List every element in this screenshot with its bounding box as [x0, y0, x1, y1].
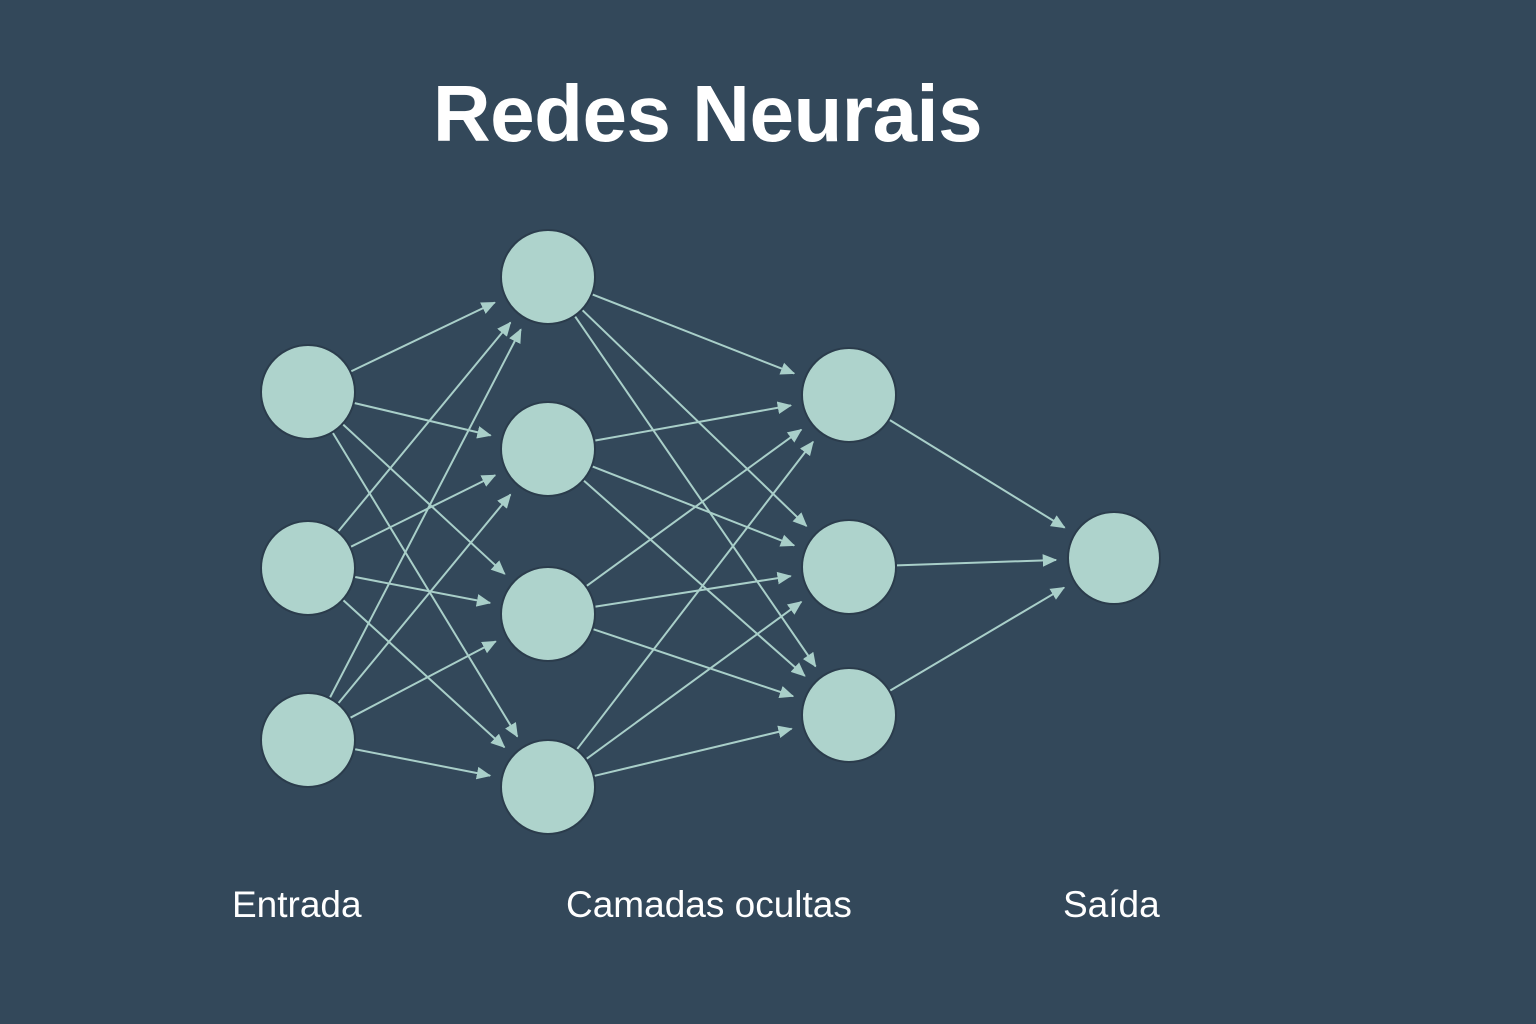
connection-edge	[351, 302, 495, 371]
connection-edge	[897, 560, 1056, 565]
neuron-node-input-2[interactable]	[261, 521, 355, 615]
connection-edge	[890, 588, 1064, 691]
connection-edge	[587, 602, 802, 759]
layer-label-output: Saída	[1063, 886, 1160, 923]
connection-edge	[595, 405, 791, 440]
layer-label-hidden: Camadas ocultas	[566, 886, 852, 923]
connection-edge	[587, 430, 801, 586]
connection-edge	[577, 442, 813, 749]
neuron-node-hidden2-2[interactable]	[802, 520, 896, 614]
neuron-node-hidden2-3[interactable]	[802, 668, 896, 762]
connection-edges	[330, 295, 1065, 776]
connection-edge	[339, 495, 511, 703]
connection-edge	[593, 295, 794, 374]
neural-network-graphic	[0, 0, 1536, 1024]
connection-edge	[595, 576, 790, 606]
connection-edge	[355, 749, 490, 775]
connection-edge	[351, 475, 495, 546]
neuron-node-hidden1-3[interactable]	[501, 567, 595, 661]
connection-edge	[575, 317, 815, 667]
connection-edge	[890, 420, 1065, 527]
neuron-node-input-3[interactable]	[261, 693, 355, 787]
neuron-node-hidden1-4[interactable]	[501, 740, 595, 834]
neuron-node-input-1[interactable]	[261, 345, 355, 439]
neuron-node-hidden1-1[interactable]	[501, 230, 595, 324]
neuron-node-output-1[interactable]	[1068, 512, 1160, 604]
neuron-node-hidden1-2[interactable]	[501, 402, 595, 496]
layer-label-input: Entrada	[232, 886, 362, 923]
neuron-nodes	[261, 230, 1160, 834]
connection-edge	[595, 729, 792, 776]
connection-edge	[343, 425, 504, 574]
neuron-node-hidden2-1[interactable]	[802, 348, 896, 442]
diagram-canvas: Redes Neurais Entrada Camadas ocultas Sa…	[0, 0, 1536, 1024]
connection-edge	[350, 641, 495, 717]
